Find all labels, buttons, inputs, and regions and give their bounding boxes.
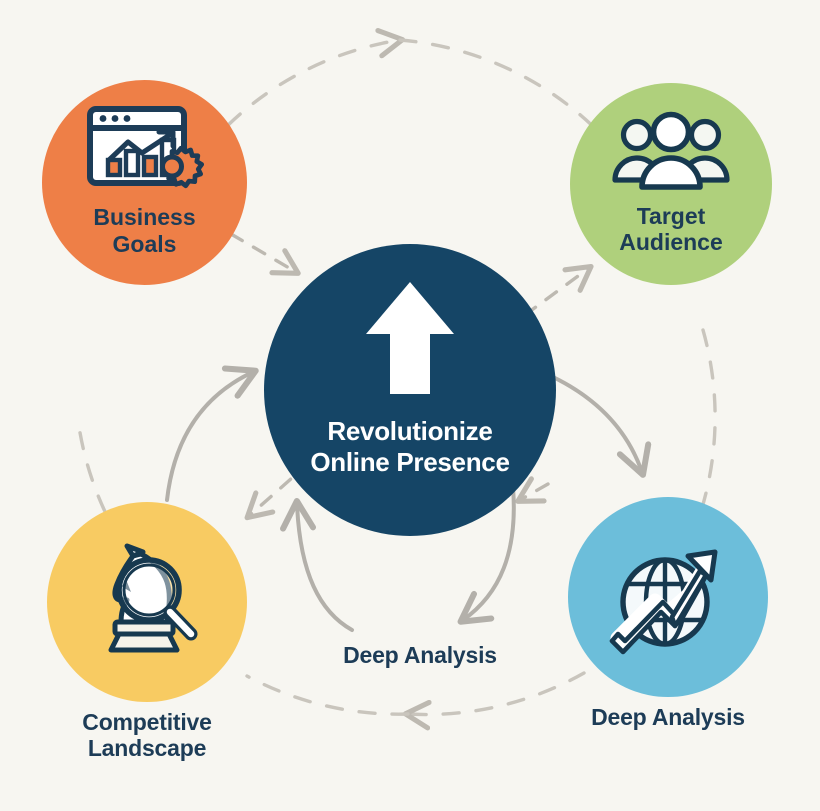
node-competitive-landscape[interactable]: Competitive Landscape <box>47 502 247 702</box>
arc-competitive-to-center <box>167 372 253 500</box>
up-arrow-icon <box>362 276 458 406</box>
node-deep-analysis-circle[interactable] <box>568 497 768 697</box>
node-competitive-landscape-label: Competitive Landscape <box>47 710 247 762</box>
floating-label-deep-analysis: Deep Analysis <box>300 642 540 669</box>
outer-arc-bottom-right <box>408 673 584 715</box>
center-label: Revolutionize Online Presence <box>310 416 509 478</box>
spoke-deep-analysis-to-center <box>520 484 548 500</box>
infographic-canvas: Business Goals Target Audience <box>0 0 820 811</box>
globe-growth-arrow-icon <box>605 538 731 656</box>
arc-center-to-deep-analysis <box>553 377 642 472</box>
node-deep-analysis-label: Deep Analysis <box>568 705 768 731</box>
node-deep-analysis[interactable]: Deep Analysis <box>568 497 768 697</box>
outer-arc-bottom-left <box>247 676 408 714</box>
node-target-audience[interactable]: Target Audience <box>570 83 772 285</box>
node-business-goals-circle[interactable]: Business Goals <box>42 80 247 285</box>
node-competitive-landscape-circle[interactable] <box>47 502 247 702</box>
dashboard-chart-gear-icon <box>85 104 205 198</box>
center-node[interactable]: Revolutionize Online Presence <box>264 244 556 536</box>
people-group-icon <box>612 111 730 191</box>
node-business-goals[interactable]: Business Goals <box>42 80 247 285</box>
arc-bottom-to-center <box>297 504 352 630</box>
node-target-audience-label: Target Audience <box>619 203 723 255</box>
node-business-goals-label: Business Goals <box>93 204 195 256</box>
node-target-audience-circle[interactable]: Target Audience <box>570 83 772 285</box>
chess-knight-magnifier-icon <box>87 542 207 662</box>
